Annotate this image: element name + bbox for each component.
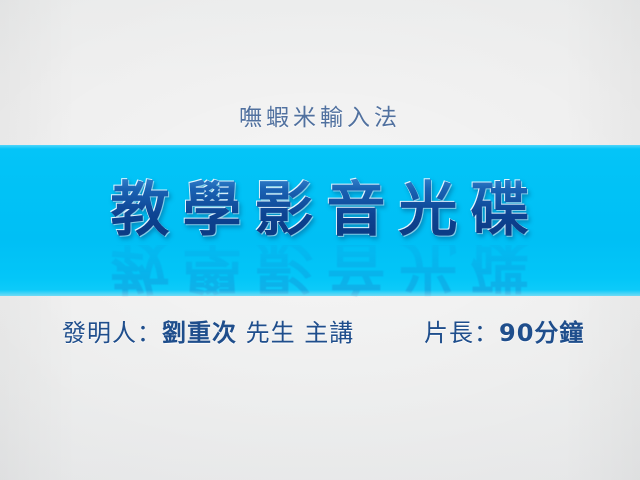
title-banner: 教學影音光碟 教學影音光碟 — [0, 145, 640, 296]
main-title-container: 教學影音光碟 — [0, 172, 640, 252]
banner-bottom-fade — [0, 290, 640, 296]
product-subtitle: 嘸蝦米輸入法 — [0, 101, 640, 135]
inventor-label: 發明人： — [62, 319, 162, 347]
duration-label: 片長： — [424, 319, 499, 347]
inventor-name: 劉重次 — [162, 319, 237, 347]
duration-value: 90分鐘 — [499, 319, 584, 347]
credits-line: 發明人：劉重次 先生 主講 片長：90分鐘 — [0, 313, 640, 353]
duration-credit: 片長：90分鐘 — [424, 313, 584, 353]
video-title-screen: 嘸蝦米輸入法 教學影音光碟 教學影音光碟 發明人：劉重次 先生 主講 片長：90… — [0, 0, 640, 480]
main-title: 教學影音光碟 — [97, 172, 542, 248]
banner-top-sheen — [0, 145, 640, 149]
inventor-suffix: 先生 主講 — [237, 319, 354, 347]
inventor-credit: 發明人：劉重次 先生 主講 — [62, 313, 354, 353]
